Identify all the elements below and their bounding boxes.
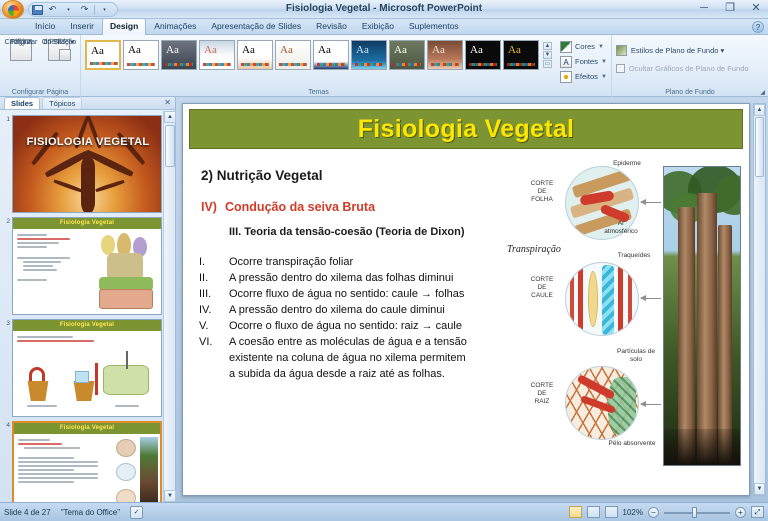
configurar-pagina-button[interactable]: Configurar Página [4, 39, 38, 61]
gallery-expand-icon[interactable]: ▭ [543, 60, 552, 68]
gallery-scroll-down-icon[interactable]: ▼ [543, 51, 552, 59]
mini-line [18, 439, 50, 441]
label-corte-de-caule: CORTE DE CAULE [521, 276, 563, 300]
fontes-label: Fontes [575, 57, 598, 66]
mini-line [18, 457, 74, 459]
theme-sample-text: Aa [128, 44, 141, 56]
theme-thumb-8[interactable]: Aa [351, 40, 387, 70]
theme-palette [127, 63, 155, 66]
status-bar-left: Slide 4 de 27 "Tema do Office" ✓ [4, 506, 143, 519]
tab-suplementos[interactable]: Suplementos [402, 19, 466, 34]
list-item-number: III. [199, 286, 229, 302]
slide-title-text: Fisiologia Vegetal [358, 115, 575, 144]
tab-inserir[interactable]: Inserir [63, 19, 101, 34]
slide-number: 2 [1, 218, 10, 225]
label-corte-raiz-line3: RAIZ [521, 398, 563, 406]
powerpoint-window: ↶ ▾ ↷ ▾ Fisiologia Vegetal - Microsoft P… [0, 0, 768, 521]
scroll-up-icon[interactable]: ▲ [164, 111, 176, 123]
mini-slide-body [13, 331, 161, 416]
list-item-text: A pressão dentro do xilema das folhas di… [229, 270, 519, 286]
list-item-text: Ocorre fluxo de água no sentido: caule →… [229, 286, 519, 302]
cores-button[interactable]: Cores ▼ [560, 39, 607, 54]
list-item-number: I. [199, 254, 229, 270]
slides-pane-scrollbar[interactable]: ▲ ▼ [163, 111, 175, 502]
heading-topic-text: Condução da seiva Bruta [225, 200, 375, 214]
cores-label: Cores [575, 42, 595, 51]
theme-thumb-3[interactable]: Aa [161, 40, 197, 70]
slide-title-placeholder[interactable]: Fisiologia Vegetal [189, 109, 743, 149]
theme-sample-text: Aa [318, 44, 331, 56]
close-pane-icon[interactable]: ✕ [164, 98, 171, 107]
mini-line [17, 234, 47, 236]
checkbox-icon[interactable] [616, 64, 625, 73]
theme-sample-text: Aa [394, 44, 407, 56]
tab-revisao[interactable]: Revisão [309, 19, 354, 34]
scroll-down-icon[interactable]: ▼ [164, 490, 176, 502]
label-epiderme: Epiderme [605, 160, 649, 168]
theme-palette [203, 63, 231, 66]
mini-slide-title: Fisiologia Vegetal [14, 423, 160, 434]
chevron-down-icon[interactable]: ▼ [601, 74, 607, 80]
zoom-out-button[interactable]: − [648, 507, 659, 518]
zoom-in-button[interactable]: + [735, 507, 746, 518]
mini-line [115, 405, 139, 407]
slide-thumbnail-2[interactable]: 2 Fisiologia Vegetal [12, 217, 161, 315]
slide-thumbnail-frame: Fisiologia Vegetal [12, 319, 162, 417]
label-corte-de-folha: CORTE DE FOLHA [521, 180, 563, 204]
window-title: Fisiologia Vegetal - Microsoft PowerPoin… [0, 3, 768, 14]
mini-line [18, 443, 62, 445]
gallery-scroll-up-icon[interactable]: ▲ [543, 42, 552, 50]
chevron-down-icon[interactable]: ▼ [598, 44, 604, 50]
mini-photo [140, 437, 158, 502]
slide-number: 3 [1, 320, 10, 327]
slide-thumbnail-3[interactable]: 3 Fisiologia Vegetal [12, 319, 161, 417]
label-particulas-de-solo: Partículas de solo [609, 348, 663, 364]
mini-line [23, 261, 61, 263]
theme-effects-icon [560, 71, 572, 83]
view-normal-icon[interactable] [569, 506, 582, 518]
spell-check-icon[interactable]: ✓ [130, 506, 143, 519]
fontes-button[interactable]: A Fontes ▼ [560, 54, 607, 69]
mini-figure [67, 361, 107, 405]
theme-palette [431, 63, 459, 66]
current-slide[interactable]: Fisiologia Vegetal 2) Nutrição Vegetal I… [182, 103, 750, 496]
theme-palette [279, 63, 307, 66]
theme-palette [507, 63, 535, 66]
mini-slide-title: Fisiologia Vegetal [13, 218, 161, 229]
label-corte-raiz-line1: CORTE [521, 382, 563, 390]
orientacao-label-2: do Slide ▾ [44, 39, 75, 47]
theme-sample-text: Aa [470, 44, 483, 56]
list-item: III. Ocorre fluxo de água no sentido: ca… [199, 286, 519, 302]
theme-palette [165, 63, 193, 66]
slide-content: 2) Nutrição Vegetal IV)Condução da seiva… [183, 154, 749, 495]
mini-line [17, 242, 59, 244]
efeitos-button[interactable]: Efeitos ▼ [560, 69, 607, 84]
label-transpiracao: Transpiração [507, 244, 561, 255]
root-cross-section-illustration [565, 366, 639, 440]
group-label-configurar-pagina: Configurar Página [0, 89, 80, 96]
view-reading-icon[interactable] [605, 506, 618, 518]
theme-thumb-5[interactable]: Aa [237, 40, 273, 70]
theme-sample-text: Aa [242, 44, 255, 56]
mini-line [17, 238, 70, 240]
ordered-list: I. Ocorre transpiração foliar II. A pres… [199, 254, 519, 382]
ribbon-group-theme-parts: Cores ▼ A Fontes ▼ Efeitos ▼ [556, 35, 611, 97]
theme-sample-text: Aa [508, 44, 521, 56]
scrollbar-thumb[interactable] [755, 117, 764, 177]
list-item-number: IV. [199, 302, 229, 318]
mini-figure [126, 351, 128, 369]
list-item: II. A pressão dentro do xilema das folha… [199, 270, 519, 286]
theme-thumb-6[interactable]: Aa [275, 40, 311, 70]
mini-line [17, 257, 70, 259]
mini-figure [97, 233, 157, 311]
mini-line [24, 447, 80, 449]
mini-line [18, 461, 98, 463]
status-bar-right: 102% − + ⤢ [569, 506, 764, 519]
mini-line [18, 469, 74, 471]
work-area: Slides Tópicos ✕ 1 [0, 97, 768, 502]
themes-gallery: Aa Aa Aa Aa Aa [85, 37, 552, 70]
label-corte-folha-line1: CORTE [521, 180, 563, 188]
list-item-continuation-1: existente na coluna de água no xilema pe… [199, 350, 519, 366]
list-item-text: Ocorre o fluxo de água no sentido: raiz … [229, 318, 519, 334]
theme-sample-text: Aa [356, 44, 369, 56]
mini-line [17, 340, 94, 342]
label-particulas-line2: solo [609, 356, 663, 364]
list-item: VI. A coesão entre as moléculas de água … [199, 334, 519, 350]
mini-line [18, 465, 98, 467]
slide-counter: Slide 4 de 27 [4, 508, 51, 517]
mini-slide-body [14, 434, 160, 502]
mini-line [27, 405, 57, 407]
label-corte-caule-line2: DE [521, 284, 563, 292]
scrollbar-thumb[interactable] [165, 125, 175, 167]
theme-thumb-9[interactable]: Aa [389, 40, 425, 70]
slide-stage: Fisiologia Vegetal 2) Nutrição Vegetal I… [176, 97, 768, 502]
label-ar-atmosferico: Ar atmosférico [599, 220, 643, 236]
efeitos-label: Efeitos [575, 72, 598, 81]
mini-line [18, 481, 74, 483]
subheading-teoria-dixon: III. Teoria da tensão-coesão (Teoria de … [229, 226, 465, 238]
mini-line [17, 246, 47, 248]
slide-thumbnail-list: 1 FISIOLOGIA VEGETAL [0, 111, 163, 502]
configurar-pagina-label-2: Página [10, 39, 32, 47]
ribbon-group-plano-de-fundo: Estilos de Plano de Fundo ▾ Ocultar Gráf… [611, 35, 768, 97]
background-styles-icon [616, 45, 627, 56]
label-corte-raiz-line2: DE [521, 390, 563, 398]
list-item: I. Ocorre transpiração foliar [199, 254, 519, 270]
chevron-down-icon[interactable]: ▼ [601, 59, 607, 65]
theme-palette [241, 63, 269, 66]
theme-sample-text: Aa [204, 44, 217, 56]
ocultar-graficos-label: Ocultar Gráficos de Plano de Fundo [629, 64, 749, 73]
list-item-text: A pressão dentro do xilema do caule dimi… [229, 302, 519, 318]
theme-thumb-10[interactable]: Aa [427, 40, 463, 70]
scroll-down-icon[interactable]: ▼ [754, 483, 765, 495]
heading-roman-numeral: IV) [201, 200, 225, 214]
theme-sample-text: Aa [432, 44, 445, 56]
label-particulas-line1: Partículas de [609, 348, 663, 356]
label-corte-caule-line3: CAULE [521, 292, 563, 300]
mini-line [18, 477, 98, 479]
pane-tab-topicos[interactable]: Tópicos [42, 97, 82, 109]
minimize-button[interactable]: ─ [696, 2, 712, 14]
arrow-root-connector [641, 404, 661, 405]
theme-name: "Tema do Office" [61, 508, 120, 517]
list-item-number: VI. [199, 334, 229, 350]
themes-gallery-scroll: ▲ ▼ ▭ [543, 42, 552, 68]
group-label-plano-de-fundo: Plano de Fundo [612, 89, 768, 96]
tab-exibicao[interactable]: Exibição [355, 19, 401, 34]
diagram-group[interactable]: CORTE DE FOLHA Epiderme Ar atmosférico T… [513, 158, 743, 491]
theme-sample-text: Aa [166, 44, 179, 56]
mini-figure [21, 361, 61, 405]
theme-palette [355, 63, 383, 66]
label-corte-folha-line2: DE [521, 188, 563, 196]
theme-palette [393, 63, 421, 66]
arrow-leaf-connector [641, 202, 661, 203]
tab-apresentacao-de-slides[interactable]: Apresentação de Slides [204, 19, 308, 34]
heading-nutricao-vegetal: 2) Nutrição Vegetal [201, 168, 323, 183]
slide-thumbnail-1[interactable]: 1 FISIOLOGIA VEGETAL [12, 115, 161, 213]
list-item-number: II. [199, 270, 229, 286]
slides-pane: Slides Tópicos ✕ 1 [0, 97, 176, 502]
status-bar: Slide 4 de 27 "Tema do Office" ✓ 102% − … [0, 502, 768, 521]
label-pelo-absorvente: Pëlo absorvente [597, 440, 667, 448]
window-controls: ─ ❐ ✕ [696, 1, 764, 14]
list-item-text: Ocorre transpiração foliar [229, 254, 519, 270]
sequoia-tree-photo [663, 166, 741, 466]
tab-design[interactable]: Design [102, 18, 146, 35]
estilos-plano-de-fundo-button[interactable]: Estilos de Plano de Fundo ▾ [616, 43, 724, 58]
maximize-button[interactable]: ❐ [722, 1, 738, 14]
list-item: IV. A pressão dentro do xilema do caule … [199, 302, 519, 318]
slide-number: 1 [1, 116, 10, 123]
mini-line [17, 336, 73, 338]
mini-line [23, 269, 57, 271]
label-corte-folha-line3: FOLHA [521, 196, 563, 204]
cover-title: FISIOLOGIA VEGETAL [13, 136, 162, 148]
label-ar: Ar [599, 220, 643, 228]
slide-vertical-scrollbar[interactable]: ▲ ▼ [753, 103, 766, 496]
theme-colors-icon [560, 41, 572, 53]
theme-palette [317, 63, 345, 66]
pane-tab-slides[interactable]: Slides [4, 97, 40, 109]
ribbon-group-configurar-pagina: Configurar Página Orientação do Slide ▾ … [0, 35, 80, 97]
theme-thumb-11[interactable]: Aa [465, 40, 501, 70]
slide-number: 4 [1, 422, 10, 429]
ocultar-graficos-checkbox[interactable]: Ocultar Gráficos de Plano de Fundo [616, 61, 749, 76]
theme-thumb-12[interactable]: Aa [503, 40, 539, 70]
mini-figure [103, 365, 149, 395]
ribbon: Configurar Página Orientação do Slide ▾ … [0, 35, 768, 97]
label-traqueides: Traqueídes [609, 252, 659, 260]
scroll-up-icon[interactable]: ▲ [754, 104, 765, 116]
theme-sample-text: Aa [91, 45, 104, 57]
title-bar: ↶ ▾ ↷ ▾ Fisiologia Vegetal - Microsoft P… [0, 0, 768, 19]
zoom-slider-knob[interactable] [692, 507, 697, 518]
heading-conducao-seiva-bruta: IV)Condução da seiva Bruta [201, 200, 375, 214]
theme-thumb-4[interactable]: Aa [199, 40, 235, 70]
ribbon-group-temas: Aa Aa Aa Aa Aa [80, 35, 556, 97]
ribbon-tab-bar: Início Inserir Design Animações Apresent… [0, 19, 768, 35]
list-item-continuation-2: a subida da água desde a raiz até as fol… [199, 366, 519, 382]
mini-line [17, 279, 47, 281]
zoom-slider[interactable] [664, 506, 730, 519]
theme-palette [90, 62, 118, 65]
orientacao-do-slide-button[interactable]: Orientação do Slide ▾ [42, 39, 76, 61]
theme-thumb-1[interactable]: Aa [85, 40, 121, 70]
zoom-slider-track [664, 512, 730, 514]
group-label-temas: Temas [81, 89, 556, 96]
label-corte-caule-line1: CORTE [521, 276, 563, 284]
stem-cross-section-illustration [565, 262, 639, 336]
slide-thumbnail-4[interactable]: 4 Fisiologia Vegetal [12, 421, 161, 502]
help-icon[interactable]: ? [752, 21, 764, 33]
list-item-text: A coesão entre as moléculas de água e a … [229, 334, 519, 350]
label-atmosferico: atmosférico [599, 228, 643, 236]
zoom-level: 102% [623, 508, 643, 517]
close-button[interactable]: ✕ [748, 1, 764, 14]
cover-image: FISIOLOGIA VEGETAL [13, 116, 162, 213]
arrow-stem-connector [641, 298, 661, 299]
theme-thumb-7[interactable]: Aa [313, 40, 349, 70]
mini-line [18, 473, 98, 475]
slide-thumbnail-frame: Fisiologia Vegetal [12, 217, 162, 315]
mini-slide-title: Fisiologia Vegetal [13, 320, 161, 331]
slide-thumbnail-frame: Fisiologia Vegetal [12, 421, 162, 502]
fit-to-window-button[interactable]: ⤢ [751, 506, 764, 518]
theme-palette [469, 63, 497, 66]
mini-figure [116, 437, 138, 502]
theme-sample-text: Aa [280, 44, 293, 56]
tab-inicio[interactable]: Início [28, 19, 62, 34]
mini-line [23, 265, 53, 267]
mini-slide-body [13, 229, 161, 314]
slide-thumbnail-frame: FISIOLOGIA VEGETAL [12, 115, 162, 213]
tab-animacoes[interactable]: Animações [147, 19, 203, 34]
view-sorter-icon[interactable] [587, 506, 600, 518]
label-corte-de-raiz: CORTE DE RAIZ [521, 382, 563, 406]
estilos-plano-de-fundo-label: Estilos de Plano de Fundo ▾ [631, 46, 724, 55]
list-item: V. Ocorre o fluxo de água no sentido: ra… [199, 318, 519, 334]
theme-fonts-icon: A [560, 56, 572, 68]
theme-thumb-2[interactable]: Aa [123, 40, 159, 70]
plano-de-fundo-dialog-launcher[interactable]: ◢ [760, 89, 765, 96]
list-item-number: V. [199, 318, 229, 334]
slides-pane-tabs: Slides Tópicos ✕ [0, 97, 175, 110]
